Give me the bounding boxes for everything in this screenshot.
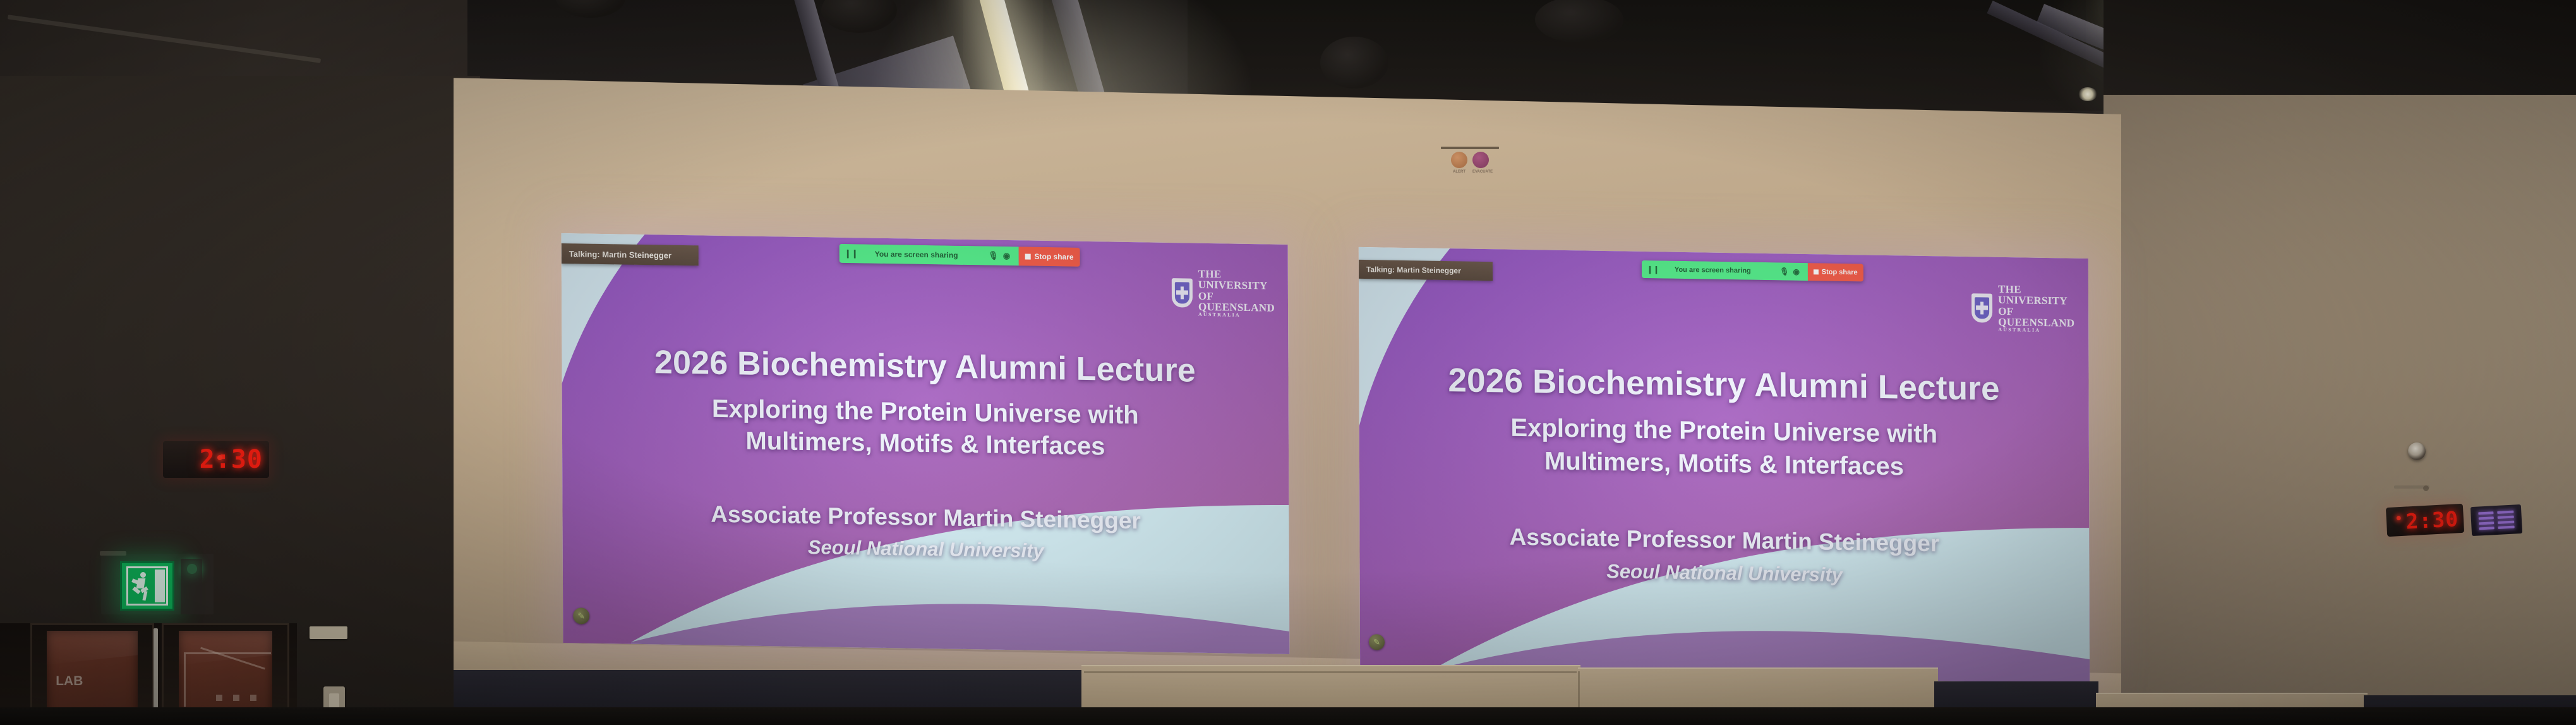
stop-share-square-icon (1025, 253, 1031, 259)
screen-share-bar-left[interactable]: ❙❙ You are screen sharing 🎙 ◉ Stop share (840, 244, 1080, 267)
screen-share-label: You are screen sharing (1675, 266, 1751, 275)
annotate-pencil-icon-left[interactable]: ✎ (573, 607, 589, 624)
ceiling-spot-right (2078, 87, 2097, 101)
screen-share-bar-right[interactable]: ❙❙ You are screen sharing 🎙 ◉ Stop share (1642, 260, 1863, 282)
ceiling-speaker-c (1320, 37, 1388, 88)
av-led (2498, 516, 2514, 519)
uq-crest-icon (1172, 278, 1193, 308)
front-bench-seam-a (1084, 671, 1577, 673)
av-led (2479, 521, 2494, 525)
lecture-theatre-scene: ALERT EVACUATE 2026 Biochemistry Alumni … (0, 0, 2576, 725)
fire-alert-lamp (1451, 152, 1467, 168)
uq-logo-line1: THE UNIVERSITY (1198, 269, 1288, 292)
av-led (2479, 516, 2494, 520)
av-led (2478, 511, 2493, 515)
clock-left-time: 2:30 (163, 445, 269, 474)
exit-sign-pictogram (126, 566, 169, 606)
fire-alert-label: ALERT (1451, 170, 1467, 174)
av-led (2497, 511, 2513, 514)
av-panel-leds-left (2478, 511, 2494, 530)
wall-clock-right: 2:30 (2386, 504, 2464, 537)
exit-door-glyph (155, 570, 165, 602)
talking-indicator-left: Talking: Martin Steinegger (562, 243, 699, 265)
fire-panel-lamps (1451, 152, 1489, 168)
emergency-exit-sign (120, 561, 174, 611)
fire-panel-labels: ALERT EVACUATE (1451, 170, 1489, 174)
talking-indicator-right: Talking: Martin Steinegger (1359, 260, 1493, 281)
uq-crest-inner (1174, 282, 1189, 303)
screen-share-status: ❙❙ You are screen sharing 🎙 ◉ (840, 244, 1019, 265)
stop-share-button[interactable]: Stop share (1808, 263, 1863, 281)
fire-alarm-panel: ALERT EVACUATE (1435, 147, 1505, 174)
uq-logo-line2: OF QUEENSLAND (1198, 290, 1288, 314)
pause-icon[interactable]: ❙❙ (1647, 265, 1659, 274)
av-control-panel[interactable] (2471, 504, 2522, 536)
exit-running-man-glyph (131, 572, 153, 601)
fire-panel-bar (1441, 147, 1499, 149)
uq-crest-cross (1976, 302, 1988, 315)
uq-crest-inner (1975, 297, 1990, 319)
clock-left-colon-dot (217, 455, 222, 460)
talking-indicator-label: Talking: Martin Steinegger (1366, 265, 1461, 275)
fire-evacuate-lamp (1472, 152, 1489, 168)
stop-share-label: Stop share (1822, 268, 1858, 276)
uq-logo-line2: OF QUEENSLAND (1998, 305, 2088, 329)
right-wall (2104, 95, 2576, 725)
microphone-icon[interactable]: 🎙 (987, 251, 1000, 261)
screen-share-status: ❙❙ You are screen sharing 🎙 ◉ (1642, 260, 1808, 281)
security-shield-icon[interactable]: ◉ (1790, 267, 1803, 276)
uq-logo-line1: THE UNIVERSITY (1998, 284, 2088, 307)
uq-logo-wordmark: THE UNIVERSITY OF QUEENSLAND AUSTRALIA (1998, 284, 2088, 334)
fire-evacuate-label: EVACUATE (1472, 170, 1489, 174)
screen-share-label: You are screen sharing (875, 250, 958, 260)
av-led (2479, 527, 2495, 530)
uq-crest-cross (1176, 286, 1188, 300)
door-left-glass-text: LAB (56, 674, 83, 689)
exit-sign-trim (100, 551, 126, 556)
door-right-sign (310, 626, 347, 639)
av-led (2498, 521, 2514, 524)
projection-screen-left[interactable]: 2026 Biochemistry Alumni Lecture Explori… (562, 233, 1290, 654)
pause-icon[interactable]: ❙❙ (845, 248, 858, 259)
exit-sign-bracket (181, 559, 202, 614)
light-switch-rocker[interactable] (329, 693, 339, 709)
dome-camera (2408, 442, 2426, 460)
stop-share-button[interactable]: Stop share (1018, 247, 1080, 267)
wall-clock-left: 2:30 (163, 441, 269, 478)
uq-crest-icon (1971, 293, 1992, 323)
right-wall-slot-b (2423, 485, 2429, 491)
av-panel-leds-right (2497, 511, 2514, 529)
door-right-glass-sheen (179, 631, 273, 666)
microphone-icon[interactable]: 🎙 (1779, 267, 1790, 276)
talking-indicator-label: Talking: Martin Steinegger (569, 249, 671, 260)
door-left-glass: LAB (47, 631, 138, 719)
stop-share-square-icon (1814, 269, 1819, 274)
uq-logo-right: THE UNIVERSITY OF QUEENSLAND AUSTRALIA (1971, 283, 2088, 334)
stop-share-label: Stop share (1035, 252, 1074, 262)
security-shield-icon[interactable]: ◉ (1000, 251, 1014, 261)
annotate-pencil-icon-right[interactable]: ✎ (1369, 634, 1385, 650)
slide-right-canvas: 2026 Biochemistry Alumni Lecture Explori… (1359, 247, 2090, 683)
door-right-glass (179, 631, 273, 719)
floor-shadow (0, 707, 2576, 725)
slide-left-canvas: 2026 Biochemistry Alumni Lecture Explori… (562, 233, 1290, 654)
uq-logo-left: THE UNIVERSITY OF QUEENSLAND AUSTRALIA (1172, 268, 1288, 319)
uq-logo-wordmark: THE UNIVERSITY OF QUEENSLAND AUSTRALIA (1198, 269, 1288, 319)
door-left-glass-sheen (47, 631, 138, 665)
av-led (2498, 526, 2515, 529)
projection-screen-right[interactable]: 2026 Biochemistry Alumni Lecture Explori… (1359, 247, 2090, 683)
